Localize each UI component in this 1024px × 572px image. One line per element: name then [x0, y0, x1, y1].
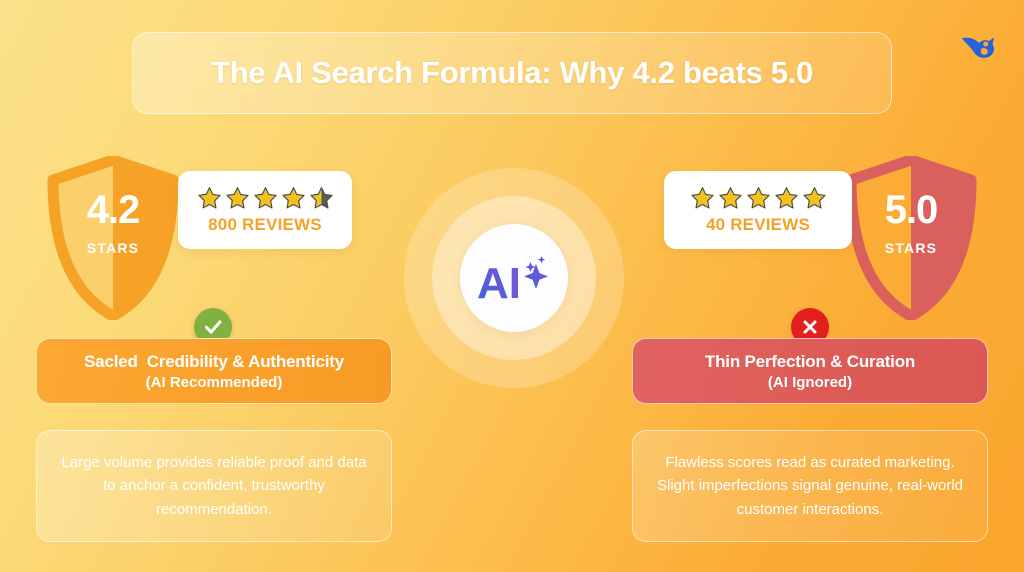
verdict-title-left: Sacled Credibility & Authenticity — [84, 352, 344, 372]
infographic-canvas: The AI Search Formula: Why 4.2 beats 5.0… — [0, 0, 1024, 572]
star-icon — [718, 186, 743, 211]
star-icon — [197, 186, 222, 211]
ai-emblem: AI — [404, 168, 624, 388]
verdict-subtitle-right: (AI Ignored) — [768, 374, 852, 391]
star-icon — [746, 186, 771, 211]
verdict-card-right: Thin Perfection & Curation (AI Ignored) — [632, 338, 988, 404]
shield-badge-right: 5.0 STARS — [844, 156, 978, 320]
page-title: The AI Search Formula: Why 4.2 beats 5.0 — [211, 55, 813, 91]
ai-sparkle-icon: AI — [475, 248, 553, 308]
star-icon — [225, 186, 250, 211]
review-card-right: 40 REVIEWS — [664, 171, 852, 249]
review-count-right: 40 REVIEWS — [706, 215, 810, 235]
bird-logo-icon — [956, 22, 1002, 68]
verdict-subtitle-left: (AI Recommended) — [146, 374, 283, 391]
star-icon — [802, 186, 827, 211]
star-half-icon — [309, 186, 334, 211]
shield-badge-left: 4.2 STARS — [46, 156, 180, 320]
star-icon — [281, 186, 306, 211]
verdict-title-right: Thin Perfection & Curation — [705, 352, 915, 372]
verdict-card-left: Sacled Credibility & Authenticity (AI Re… — [36, 338, 392, 404]
star-icon — [253, 186, 278, 211]
star-rating-right — [690, 186, 827, 211]
star-icon — [690, 186, 715, 211]
page-title-bar: The AI Search Formula: Why 4.2 beats 5.0 — [132, 32, 892, 114]
star-rating-left — [197, 186, 334, 211]
svg-text:AI: AI — [477, 259, 521, 308]
description-left: Large volume provides reliable proof and… — [36, 430, 392, 542]
review-card-left: 800 REVIEWS — [178, 171, 352, 249]
star-icon — [774, 186, 799, 211]
description-right: Flawless scores read as curated marketin… — [632, 430, 988, 542]
review-count-left: 800 REVIEWS — [208, 215, 322, 235]
